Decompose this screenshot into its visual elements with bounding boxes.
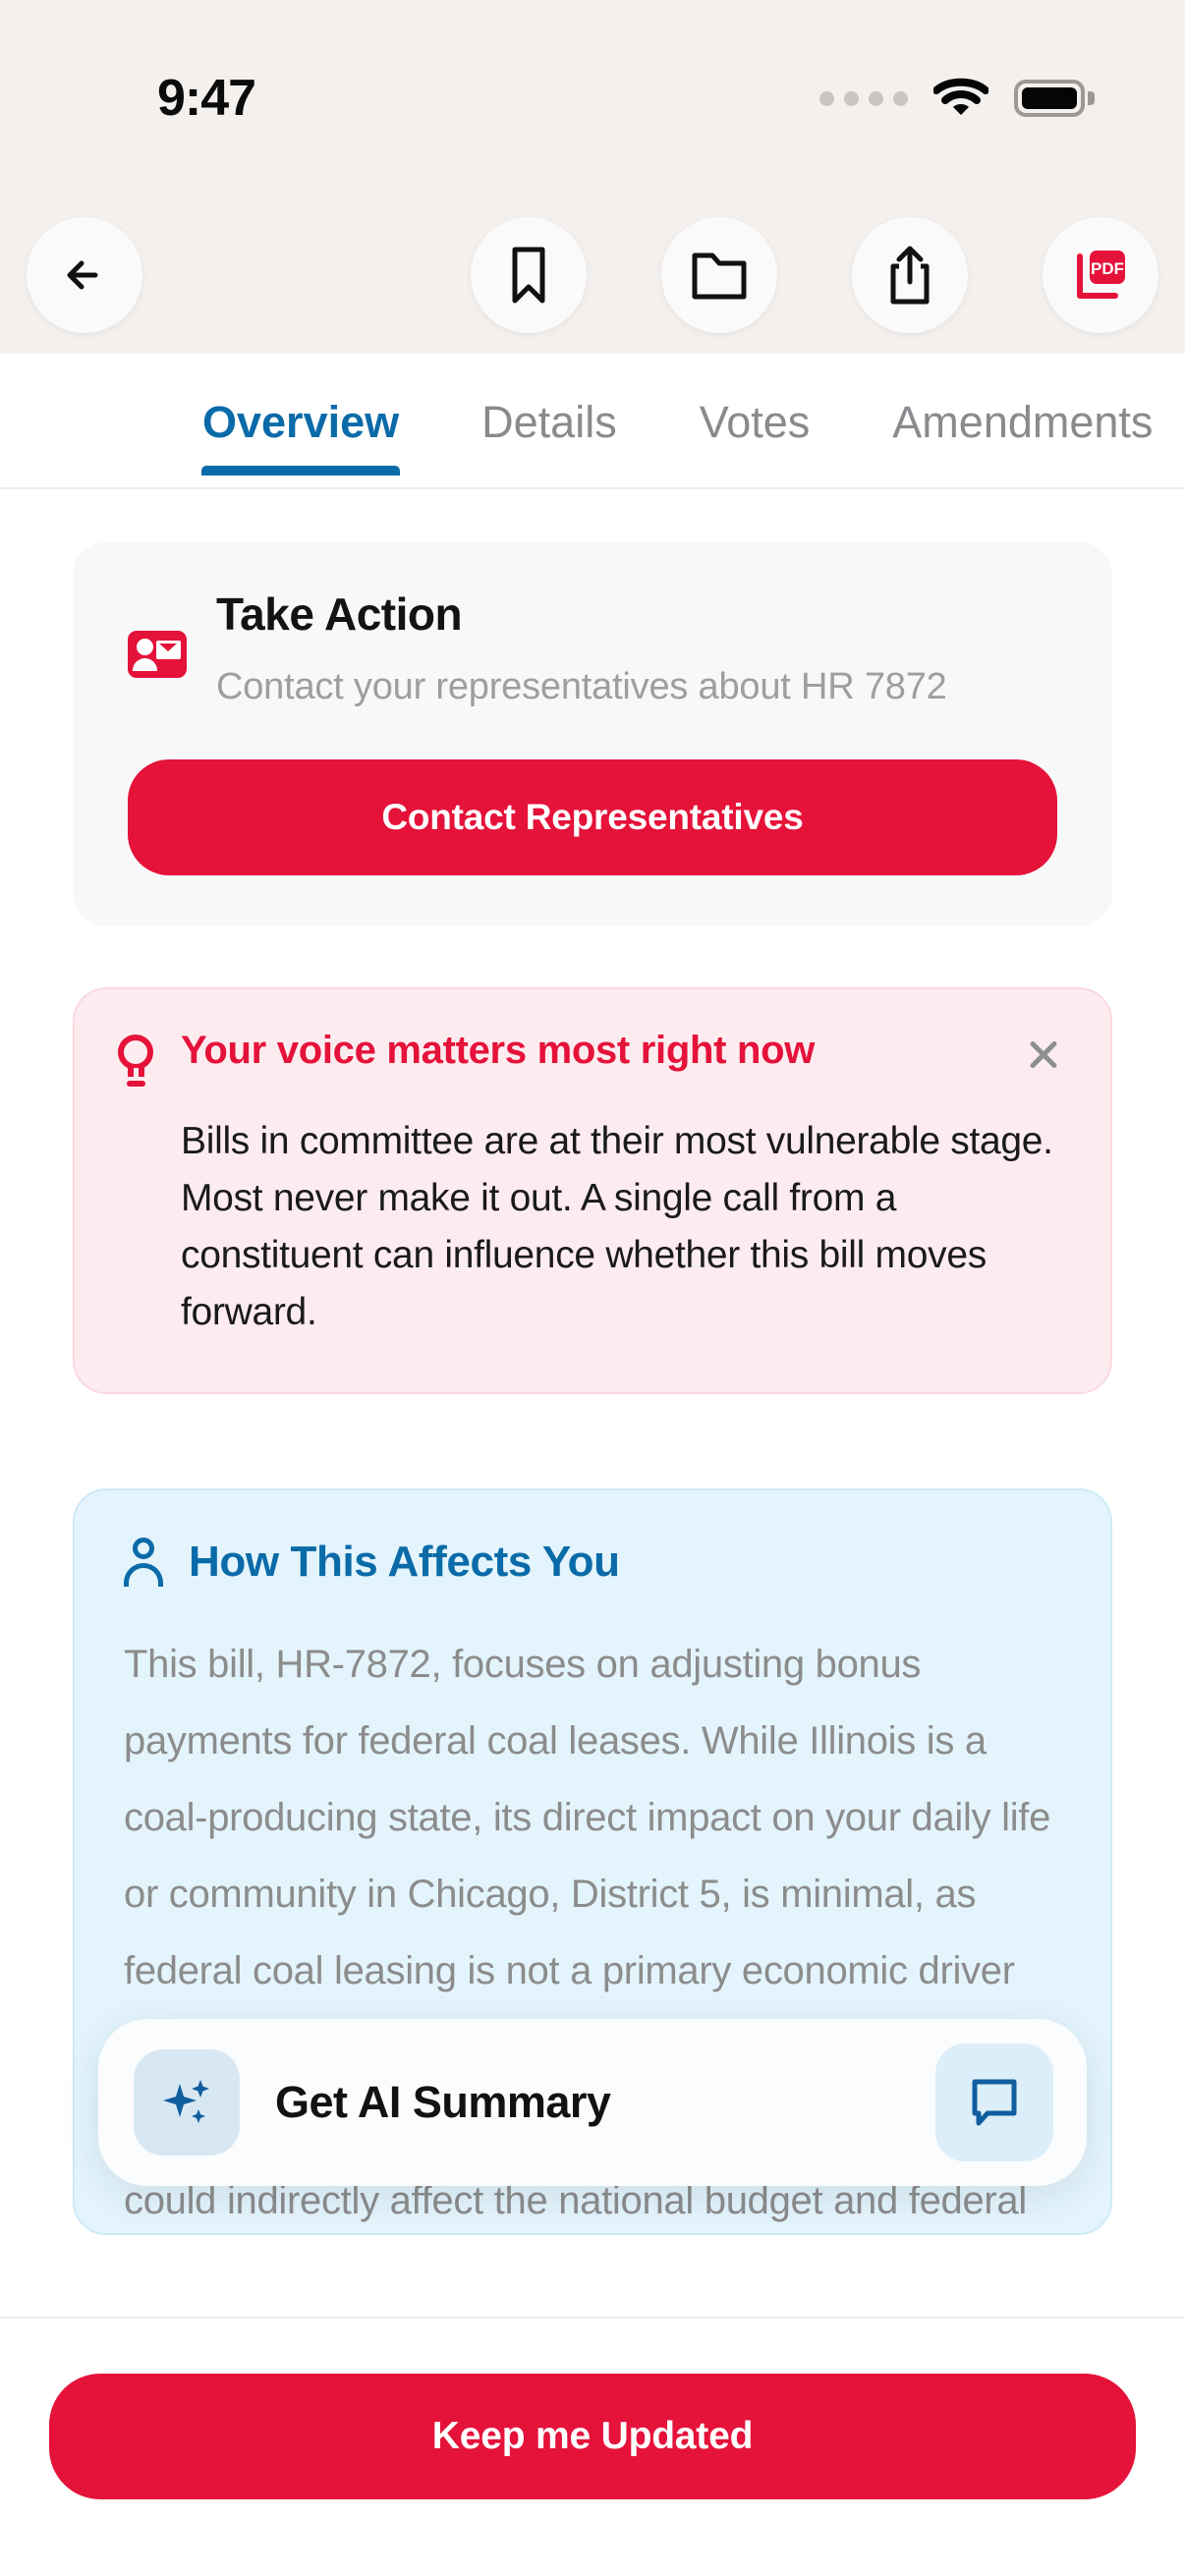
take-action-card: Take Action Contact your representatives…: [73, 542, 1112, 926]
tab-overview[interactable]: Overview: [202, 354, 399, 448]
folder-button[interactable]: [661, 217, 777, 333]
tab-amendments[interactable]: Amendments: [892, 354, 1153, 448]
phone-screen: 9:47: [0, 0, 1185, 2576]
ai-summary-label: Get AI Summary: [275, 2077, 900, 2128]
get-ai-summary-bar[interactable]: Get AI Summary: [98, 2019, 1087, 2186]
tab-bar: Overview Details Votes Amendments: [0, 354, 1185, 489]
take-action-title: Take Action: [216, 588, 1057, 641]
bookmark-button[interactable]: [471, 217, 587, 333]
contact-representatives-button[interactable]: Contact Representatives: [128, 759, 1057, 875]
battery-full-icon: [1014, 80, 1095, 117]
sparkle-icon: [134, 2049, 240, 2156]
contact-card-icon: [128, 631, 187, 678]
close-icon[interactable]: [1020, 1031, 1067, 1078]
pdf-icon: PDF: [1070, 245, 1131, 306]
person-icon: [124, 1538, 163, 1587]
status-clock: 9:47: [157, 69, 255, 128]
voice-matters-alert: Your voice matters most right now Bills …: [73, 987, 1112, 1394]
lightbulb-icon: [116, 1035, 157, 1088]
top-toolbar: PDF: [0, 196, 1185, 354]
alert-title: Your voice matters most right now: [181, 1029, 996, 1073]
keep-me-updated-button[interactable]: Keep me Updated: [49, 2374, 1136, 2499]
bottom-bar: Keep me Updated: [0, 2317, 1185, 2576]
tab-details[interactable]: Details: [481, 354, 617, 448]
svg-text:PDF: PDF: [1091, 259, 1124, 278]
take-action-subtitle: Contact your representatives about HR 78…: [216, 666, 1057, 708]
signal-dots-icon: [819, 91, 908, 106]
status-bar: 9:47: [0, 0, 1185, 196]
tab-votes[interactable]: Votes: [700, 354, 811, 448]
back-button[interactable]: [27, 217, 142, 333]
folder-icon: [691, 250, 748, 301]
share-button[interactable]: [852, 217, 968, 333]
affects-you-title: How This Affects You: [189, 1538, 620, 1587]
pdf-button[interactable]: PDF: [1043, 217, 1158, 333]
alert-body: Bills in committee are at their most vul…: [181, 1113, 1067, 1341]
wifi-icon: [933, 78, 988, 119]
arrow-left-icon: [56, 247, 113, 304]
share-icon: [885, 245, 934, 306]
chat-bubble-icon[interactable]: [935, 2044, 1053, 2161]
status-indicators: [819, 78, 1095, 119]
bookmark-icon: [505, 246, 552, 305]
